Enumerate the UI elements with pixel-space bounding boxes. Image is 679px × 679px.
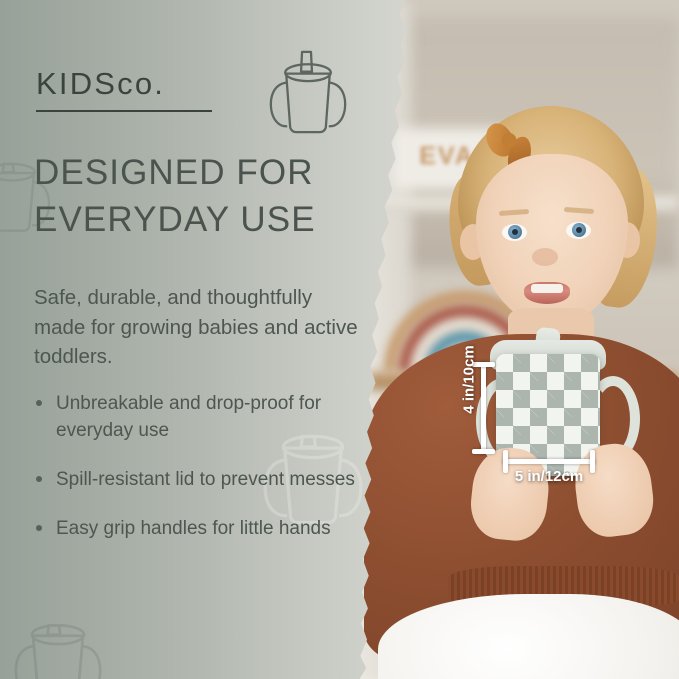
list-item: Spill-resistant lid to prevent messes (34, 467, 364, 494)
list-item: Easy grip handles for little hands (34, 516, 364, 543)
brand-underline (36, 110, 212, 112)
page-title: DESIGNED FOR EVERYDAY USE (34, 150, 384, 244)
info-panel: KIDSco. DESIGNED FOR EVERYDAY USE Safe, … (0, 0, 420, 679)
sippy-cup-icon (256, 38, 360, 142)
eye-right (566, 222, 591, 239)
sippy-cup-watermark-icon (6, 600, 110, 679)
feature-list: Unbreakable and drop-proof for everyday … (34, 391, 364, 565)
toddler-model: KIDSco (398, 96, 679, 679)
mouth (524, 282, 570, 304)
list-item: Unbreakable and drop-proof for everyday … (34, 391, 364, 445)
subheading-text: Safe, durable, and thoughtfully made for… (34, 283, 364, 372)
width-dimension-line (503, 459, 595, 464)
width-dimension-label: 5 in/12cm (503, 468, 595, 485)
nose (532, 248, 558, 266)
eye-left (502, 224, 527, 241)
product-infographic: EVA (0, 0, 679, 679)
brand-logo-text: KIDSco. (36, 66, 165, 102)
height-dimension-label: 4 in/10cm (461, 334, 478, 426)
height-dimension-line (481, 362, 486, 454)
